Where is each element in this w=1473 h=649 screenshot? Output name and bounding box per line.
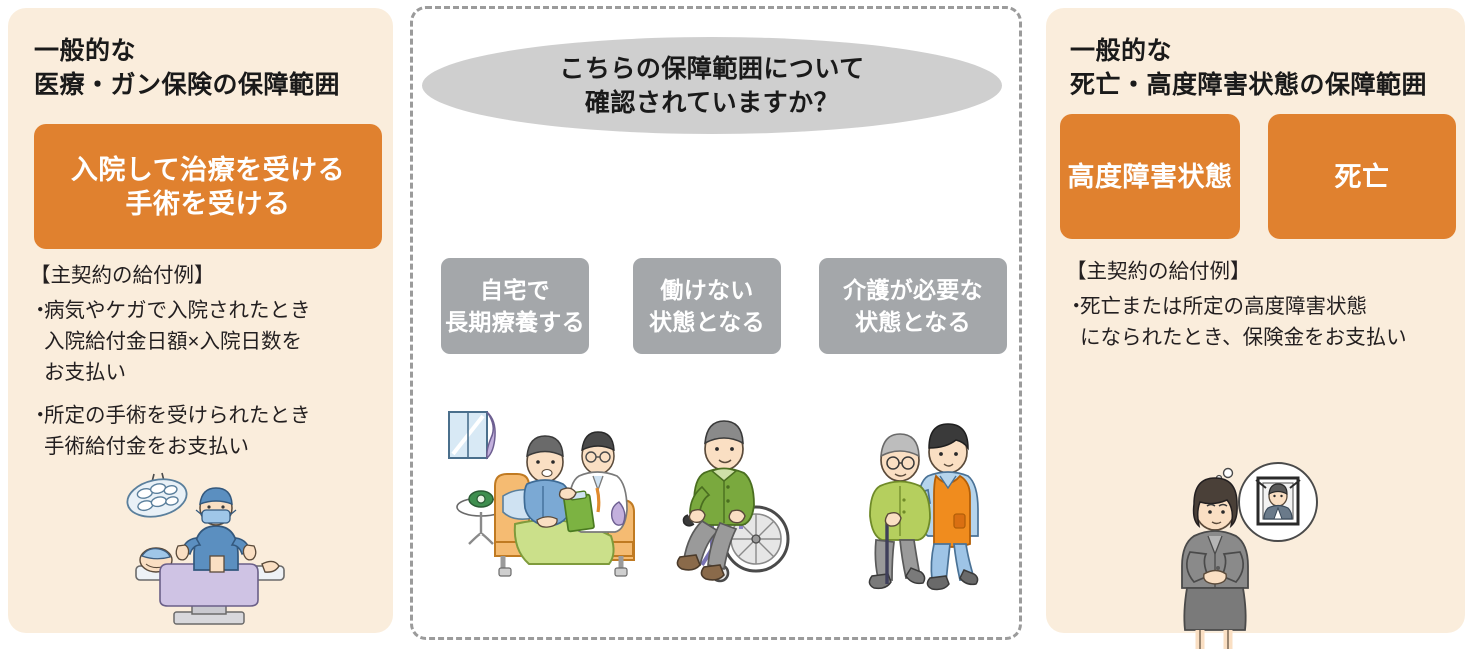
caregiver-with-elderly-man-illustration xyxy=(866,418,996,598)
left-bullet-text-1: 所定の手術を受けられたとき 手術給付金をお支払い xyxy=(44,400,311,462)
left-panel-body: 【主契約の給付例】 ・ 病気やケガで入院されたとき 入院給付金日額×入院日数を … xyxy=(30,260,392,462)
left-body-title: 【主契約の給付例】 xyxy=(30,260,392,291)
right-bullet-text-0: 死亡または所定の高度障害状態 になられたとき、保険金をお支払い xyxy=(1080,291,1407,353)
right-panel-heading: 一般的な 死亡・高度障害状態の保障範囲 xyxy=(1070,34,1427,102)
gray-button-home-longterm-care[interactable]: 自宅で 長期療養する xyxy=(441,258,589,354)
left-bullet-text-0: 病気やケガで入院されたとき 入院給付金日額×入院日数を お支払い xyxy=(44,295,311,388)
man-in-wheelchair-illustration xyxy=(672,415,802,595)
gray-button-needs-nursing-care[interactable]: 介護が必要な 状態となる xyxy=(819,258,1007,354)
bullet-marker-icon: ・ xyxy=(30,295,44,388)
medical-cancer-coverage-panel: 一般的な 医療・ガン保険の保障範囲 入院して治療を受ける 手術を受ける 【主契約… xyxy=(8,8,393,633)
severe-disability-orange-button[interactable]: 高度障害状態 xyxy=(1060,114,1240,239)
gray-button-unable-to-work[interactable]: 働けない 状態となる xyxy=(633,258,781,354)
bullet-marker-icon: ・ xyxy=(1066,291,1080,353)
right-bullet-item-0: ・ 死亡または所定の高度障害状態 になられたとき、保険金をお支払い xyxy=(1066,291,1458,353)
surgery-operating-room-illustration xyxy=(110,460,310,630)
right-panel-body: 【主契約の給付例】 ・ 死亡または所定の高度障害状態 になられたとき、保険金をお… xyxy=(1066,256,1458,353)
left-coverage-orange-button[interactable]: 入院して治療を受ける 手術を受ける xyxy=(34,124,382,249)
question-ellipse-label: こちらの保障範囲について 確認されていますか？ xyxy=(422,37,1002,134)
bullet-marker-icon: ・ xyxy=(30,400,44,462)
death-orange-button[interactable]: 死亡 xyxy=(1268,114,1456,239)
left-bullet-item-0: ・ 病気やケガで入院されたとき 入院給付金日額×入院日数を お支払い xyxy=(30,295,392,388)
home-care-patient-in-bed-illustration xyxy=(443,404,653,604)
left-panel-heading: 一般的な 医療・ガン保険の保障範囲 xyxy=(34,34,340,102)
death-severe-disability-coverage-panel: 一般的な 死亡・高度障害状態の保障範囲 高度障害状態 死亡 【主契約の給付例】 … xyxy=(1046,8,1465,633)
right-body-title: 【主契約の給付例】 xyxy=(1066,256,1458,287)
left-bullet-item-1: ・ 所定の手術を受けられたとき 手術給付金をお支払い xyxy=(30,400,392,462)
mourning-woman-with-memorial-portrait-illustration xyxy=(1174,460,1354,630)
